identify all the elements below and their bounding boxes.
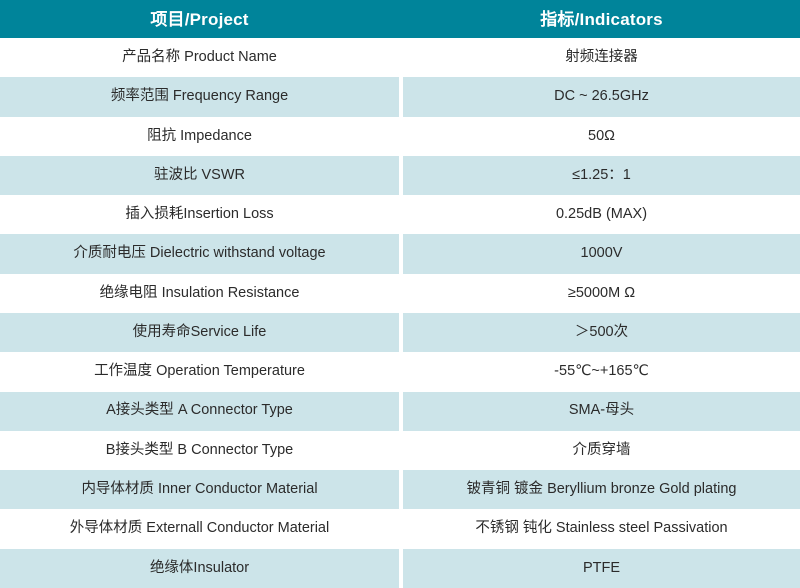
cell-project: B接头类型 B Connector Type (0, 431, 399, 470)
table-row: 频率范围 Frequency RangeDC ~ 26.5GHz (0, 77, 800, 116)
cell-project: 内导体材质 Inner Conductor Material (0, 470, 399, 509)
table-row: 阻抗 Impedance50Ω (0, 117, 800, 156)
cell-indicator: 50Ω (403, 117, 800, 156)
table-row: 内导体材质 Inner Conductor Material铍青铜 镀金 Ber… (0, 470, 800, 509)
cell-indicator: ＞500次 (403, 313, 800, 352)
column-header-indicators: 指标/Indicators (403, 0, 800, 38)
table-body: 产品名称 Product Name射频连接器频率范围 Frequency Ran… (0, 38, 800, 588)
table-row: 产品名称 Product Name射频连接器 (0, 38, 800, 77)
table-row: 绝缘电阻 Insulation Resistance≥5000M Ω (0, 274, 800, 313)
cell-indicator: ≤1.25：1 (403, 156, 800, 195)
cell-indicator: 铍青铜 镀金 Beryllium bronze Gold plating (403, 470, 800, 509)
column-header-project: 项目/Project (0, 0, 399, 38)
cell-indicator: 射频连接器 (403, 38, 800, 77)
cell-indicator: DC ~ 26.5GHz (403, 77, 800, 116)
cell-project: 驻波比 VSWR (0, 156, 399, 195)
cell-project: 绝缘体Insulator (0, 549, 399, 588)
cell-indicator: 不锈钢 钝化 Stainless steel Passivation (403, 509, 800, 548)
cell-project: 插入损耗Insertion Loss (0, 195, 399, 234)
cell-project: A接头类型 A Connector Type (0, 392, 399, 431)
cell-project: 介质耐电压 Dielectric withstand voltage (0, 234, 399, 273)
cell-indicator: -55℃~+165℃ (403, 352, 800, 391)
cell-project: 外导体材质 Externall Conductor Material (0, 509, 399, 548)
cell-project: 阻抗 Impedance (0, 117, 399, 156)
cell-indicator: 介质穿墙 (403, 431, 800, 470)
cell-project: 绝缘电阻 Insulation Resistance (0, 274, 399, 313)
cell-indicator: 1000V (403, 234, 800, 273)
cell-indicator: 0.25dB (MAX) (403, 195, 800, 234)
cell-indicator: PTFE (403, 549, 800, 588)
cell-indicator: ≥5000M Ω (403, 274, 800, 313)
cell-project: 产品名称 Product Name (0, 38, 399, 77)
table-row: B接头类型 B Connector Type介质穿墙 (0, 431, 800, 470)
table-row: 使用寿命Service Life＞500次 (0, 313, 800, 352)
table-row: 外导体材质 Externall Conductor Material不锈钢 钝化… (0, 509, 800, 548)
cell-project: 使用寿命Service Life (0, 313, 399, 352)
table-row: 插入损耗Insertion Loss0.25dB (MAX) (0, 195, 800, 234)
table-header-row: 项目/Project 指标/Indicators (0, 0, 800, 38)
table-row: 绝缘体InsulatorPTFE (0, 549, 800, 588)
cell-project: 频率范围 Frequency Range (0, 77, 399, 116)
table-row: 介质耐电压 Dielectric withstand voltage1000V (0, 234, 800, 273)
cell-project: 工作温度 Operation Temperature (0, 352, 399, 391)
table-row: 驻波比 VSWR≤1.25：1 (0, 156, 800, 195)
cell-indicator: SMA-母头 (403, 392, 800, 431)
table-row: 工作温度 Operation Temperature-55℃~+165℃ (0, 352, 800, 391)
specification-table: 项目/Project 指标/Indicators 产品名称 Product Na… (0, 0, 800, 588)
table-row: A接头类型 A Connector TypeSMA-母头 (0, 392, 800, 431)
